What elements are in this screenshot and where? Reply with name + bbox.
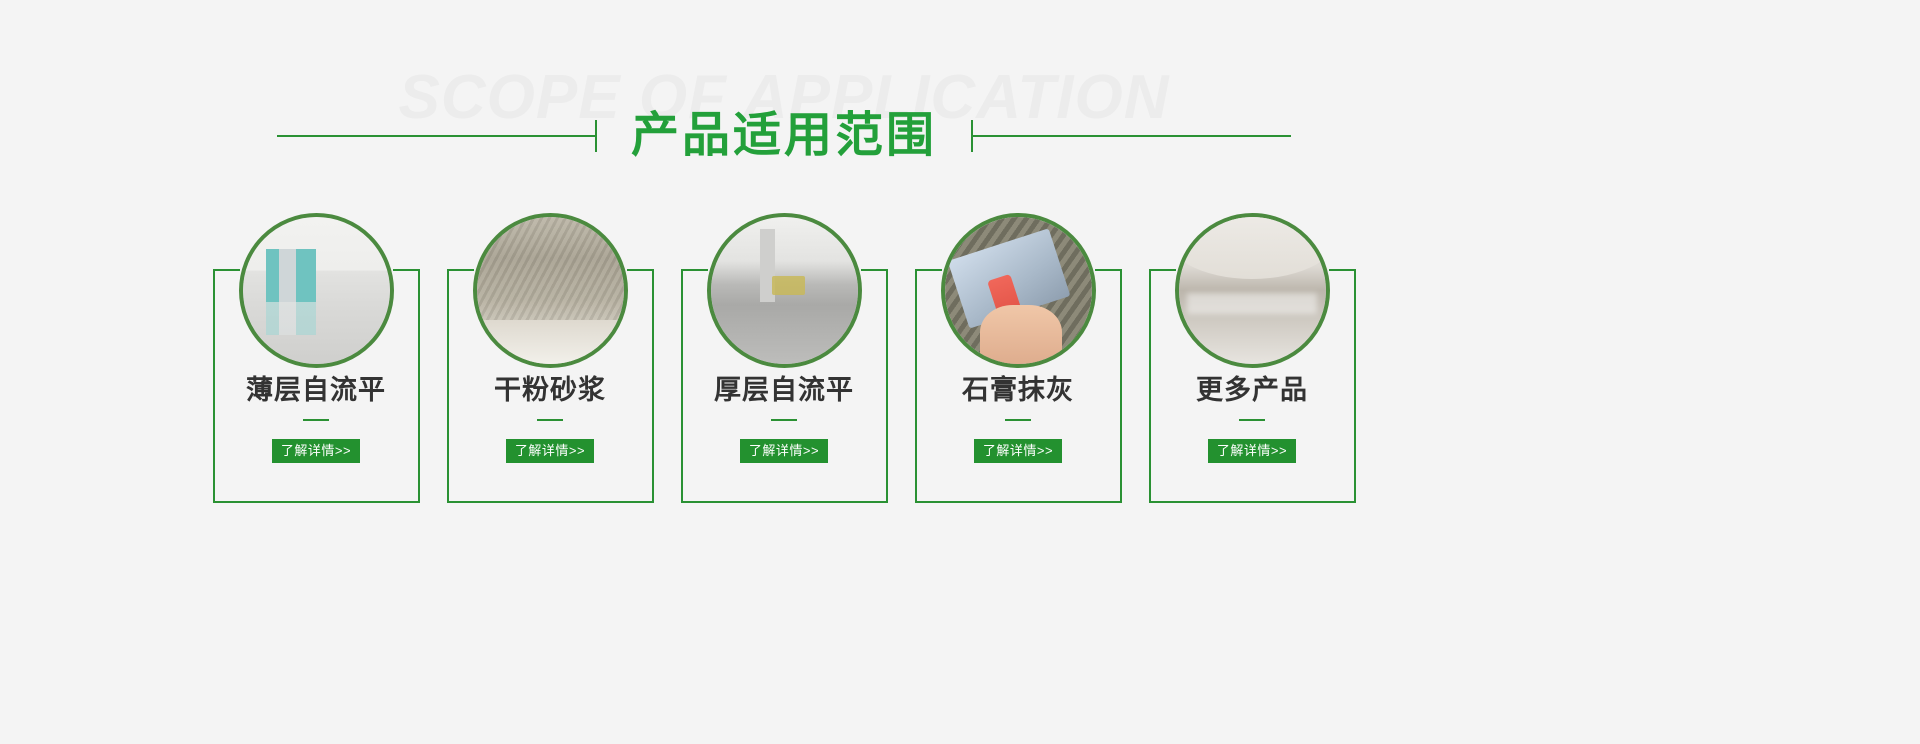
learn-more-button[interactable]: 了解详情>> xyxy=(1208,439,1296,463)
learn-more-button[interactable]: 了解详情>> xyxy=(740,439,828,463)
card-body: 干粉砂浆 了解详情>> xyxy=(447,376,654,463)
section-header: SCOPE OF APPLICATION 产品适用范围 xyxy=(0,0,1568,200)
polished-glossy-surface-photo xyxy=(1179,217,1326,364)
product-image-circle xyxy=(941,213,1096,368)
rule-tick-left xyxy=(595,120,597,152)
card-title: 石膏抹灰 xyxy=(915,376,1122,406)
title-row: 产品适用范围 xyxy=(0,100,1568,172)
warehouse-floor-photo xyxy=(711,217,858,364)
decorative-rule-right xyxy=(971,135,1291,137)
learn-more-button[interactable]: 了解详情>> xyxy=(272,439,360,463)
learn-more-button[interactable]: 了解详情>> xyxy=(974,439,1062,463)
application-scope-section: SCOPE OF APPLICATION 产品适用范围 薄层自流平 了解详情>> xyxy=(0,0,1568,744)
card-body: 薄层自流平 了解详情>> xyxy=(213,376,420,463)
card-title: 厚层自流平 xyxy=(681,376,888,406)
title-divider xyxy=(771,419,797,421)
rule-tick-right xyxy=(971,120,973,152)
card-body: 石膏抹灰 了解详情>> xyxy=(915,376,1122,463)
card-title: 薄层自流平 xyxy=(213,376,420,406)
product-card[interactable]: 更多产品 了解详情>> xyxy=(1149,213,1356,503)
card-body: 更多产品 了解详情>> xyxy=(1149,376,1356,463)
product-image-circle xyxy=(239,213,394,368)
product-card[interactable]: 厚层自流平 了解详情>> xyxy=(681,213,888,503)
card-body: 厚层自流平 了解详情>> xyxy=(681,376,888,463)
notched-trowel-in-hand-photo xyxy=(945,217,1092,364)
cleanroom-epoxy-floor-photo xyxy=(243,217,390,364)
decorative-rule-left xyxy=(277,135,597,137)
product-card[interactable]: 石膏抹灰 了解详情>> xyxy=(915,213,1122,503)
product-card[interactable]: 干粉砂浆 了解详情>> xyxy=(447,213,654,503)
product-card-list: 薄层自流平 了解详情>> 干粉砂浆 了解详情>> xyxy=(0,213,1568,503)
title-divider xyxy=(1239,419,1265,421)
title-divider xyxy=(537,419,563,421)
hand-shape xyxy=(980,305,1062,368)
title-divider xyxy=(1005,419,1031,421)
title-divider xyxy=(303,419,329,421)
card-title: 更多产品 xyxy=(1149,376,1356,406)
product-image-circle xyxy=(473,213,628,368)
card-title: 干粉砂浆 xyxy=(447,376,654,406)
dry-powder-mortar-bag-photo xyxy=(477,217,624,364)
product-card[interactable]: 薄层自流平 了解详情>> xyxy=(213,213,420,503)
product-image-circle xyxy=(707,213,862,368)
page-title: 产品适用范围 xyxy=(597,112,971,160)
learn-more-button[interactable]: 了解详情>> xyxy=(506,439,594,463)
product-image-circle xyxy=(1175,213,1330,368)
